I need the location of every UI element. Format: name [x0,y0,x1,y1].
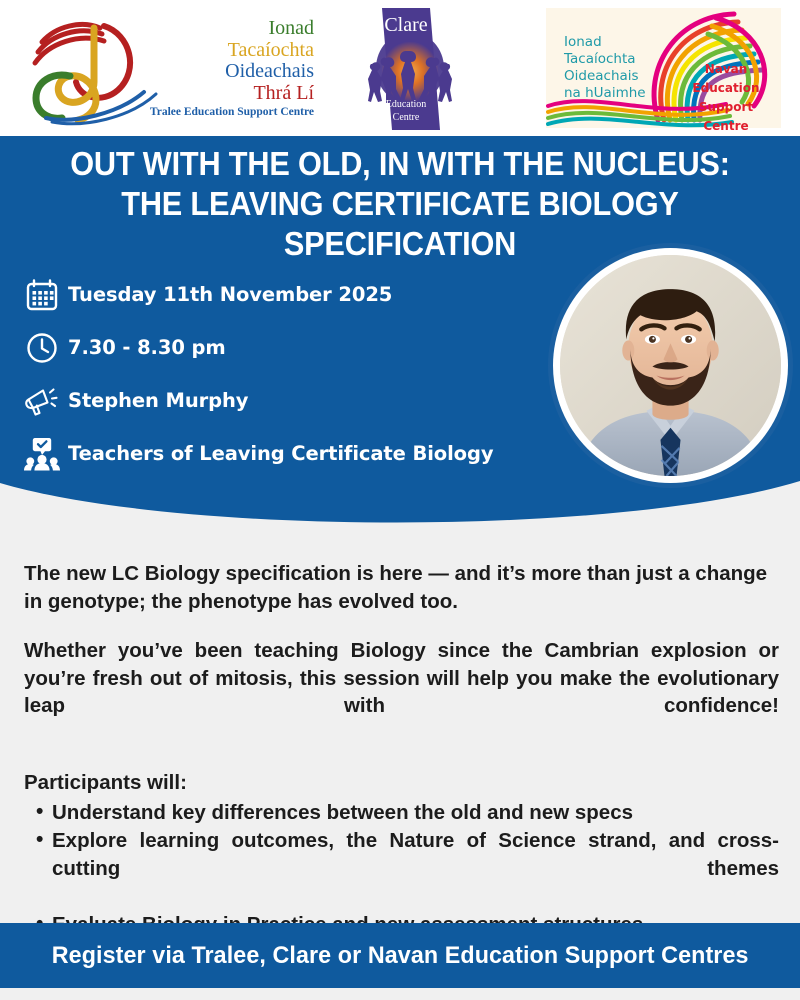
speaker-portrait-frame [548,243,793,488]
tralee-education-support-centre-logo: Ionad Tacaíochta Oideachais Thrá Lí Tral… [22,14,312,126]
flyer-page: Ionad Tacaíochta Oideachais Thrá Lí Tral… [0,0,800,1000]
event-audience-row: Teachers of Leaving Certificate Biology [16,427,556,480]
clare-logo-bottom-line2: Centre [348,111,464,124]
tralee-logo-subtitle: Tralee Education Support Centre [88,106,314,118]
event-time-row: 7.30 - 8.30 pm [16,321,556,374]
navan-logo-irish-line3: Oideachais [564,68,646,85]
list-item: Explore learning outcomes, the Nature of… [24,827,779,910]
navan-logo-english-line2: Education [676,79,776,98]
event-speaker-text: Stephen Murphy [68,389,248,412]
clock-icon [16,326,68,370]
clare-logo-top-text: Clare [348,14,464,37]
navan-logo-irish-line4: na hUaimhe [564,85,646,102]
event-date-text: Tuesday 11th November 2025 [68,283,392,306]
calendar-icon [16,273,68,317]
navan-logo-english-text: Navan Education Support Centre [676,60,776,136]
list-item: Understand key differences between the o… [24,799,779,827]
body-paragraph-2: Whether you’ve been teaching Biology sin… [24,637,779,747]
speaker-portrait-photo [560,255,781,476]
participants-heading: Participants will: [24,769,779,797]
registration-text: Register via Tralee, Clare or Navan Educ… [52,942,749,970]
tralee-logo-text: Ionad Tacaíochta Oideachais Thrá Lí [118,18,314,104]
page-title-line1: OUT WITH THE OLD, IN WITH THE NUCLEUS: [47,144,754,184]
event-date-row: Tuesday 11th November 2025 [16,268,556,321]
audience-icon [16,432,68,476]
page-title-line2: THE LEAVING CERTIFICATE BIOLOGY [47,184,754,224]
body-content: The new LC Biology specification is here… [24,560,779,968]
navan-logo-english-line3: Support Centre [676,98,776,136]
tralee-logo-line2: Tacaíochta [118,40,314,62]
megaphone-icon [16,379,68,423]
navan-logo-irish-line2: Tacaíochta [564,51,646,68]
tralee-logo-line4: Thrá Lí [118,83,314,105]
clare-logo-bottom-text: Education Centre [348,98,464,124]
tralee-logo-line1: Ionad [118,18,314,40]
speaker-portrait-ring [553,248,788,483]
tralee-logo-line3: Oideachais [118,61,314,83]
navan-education-support-centre-logo: Ionad Tacaíochta Oideachais na hUaimhe N… [546,8,781,128]
clare-logo-bottom-line1: Education [348,98,464,111]
body-paragraph-1: The new LC Biology specification is here… [24,560,779,615]
footer-banner: Register via Tralee, Clare or Navan Educ… [0,923,800,988]
navan-logo-irish-line1: Ionad [564,34,646,51]
navan-logo-english-line1: Navan [676,60,776,79]
navan-logo-irish-text: Ionad Tacaíochta Oideachais na hUaimhe [564,34,646,102]
event-speaker-row: Stephen Murphy [16,374,556,427]
logo-header: Ionad Tacaíochta Oideachais Thrá Lí Tral… [0,0,800,136]
event-audience-text: Teachers of Leaving Certificate Biology [68,442,493,465]
event-time-text: 7.30 - 8.30 pm [68,336,226,359]
clare-education-centre-logo: Clare Education Centre [348,6,464,132]
event-details-list: Tuesday 11th November 2025 7.30 - 8.30 p… [16,268,556,480]
